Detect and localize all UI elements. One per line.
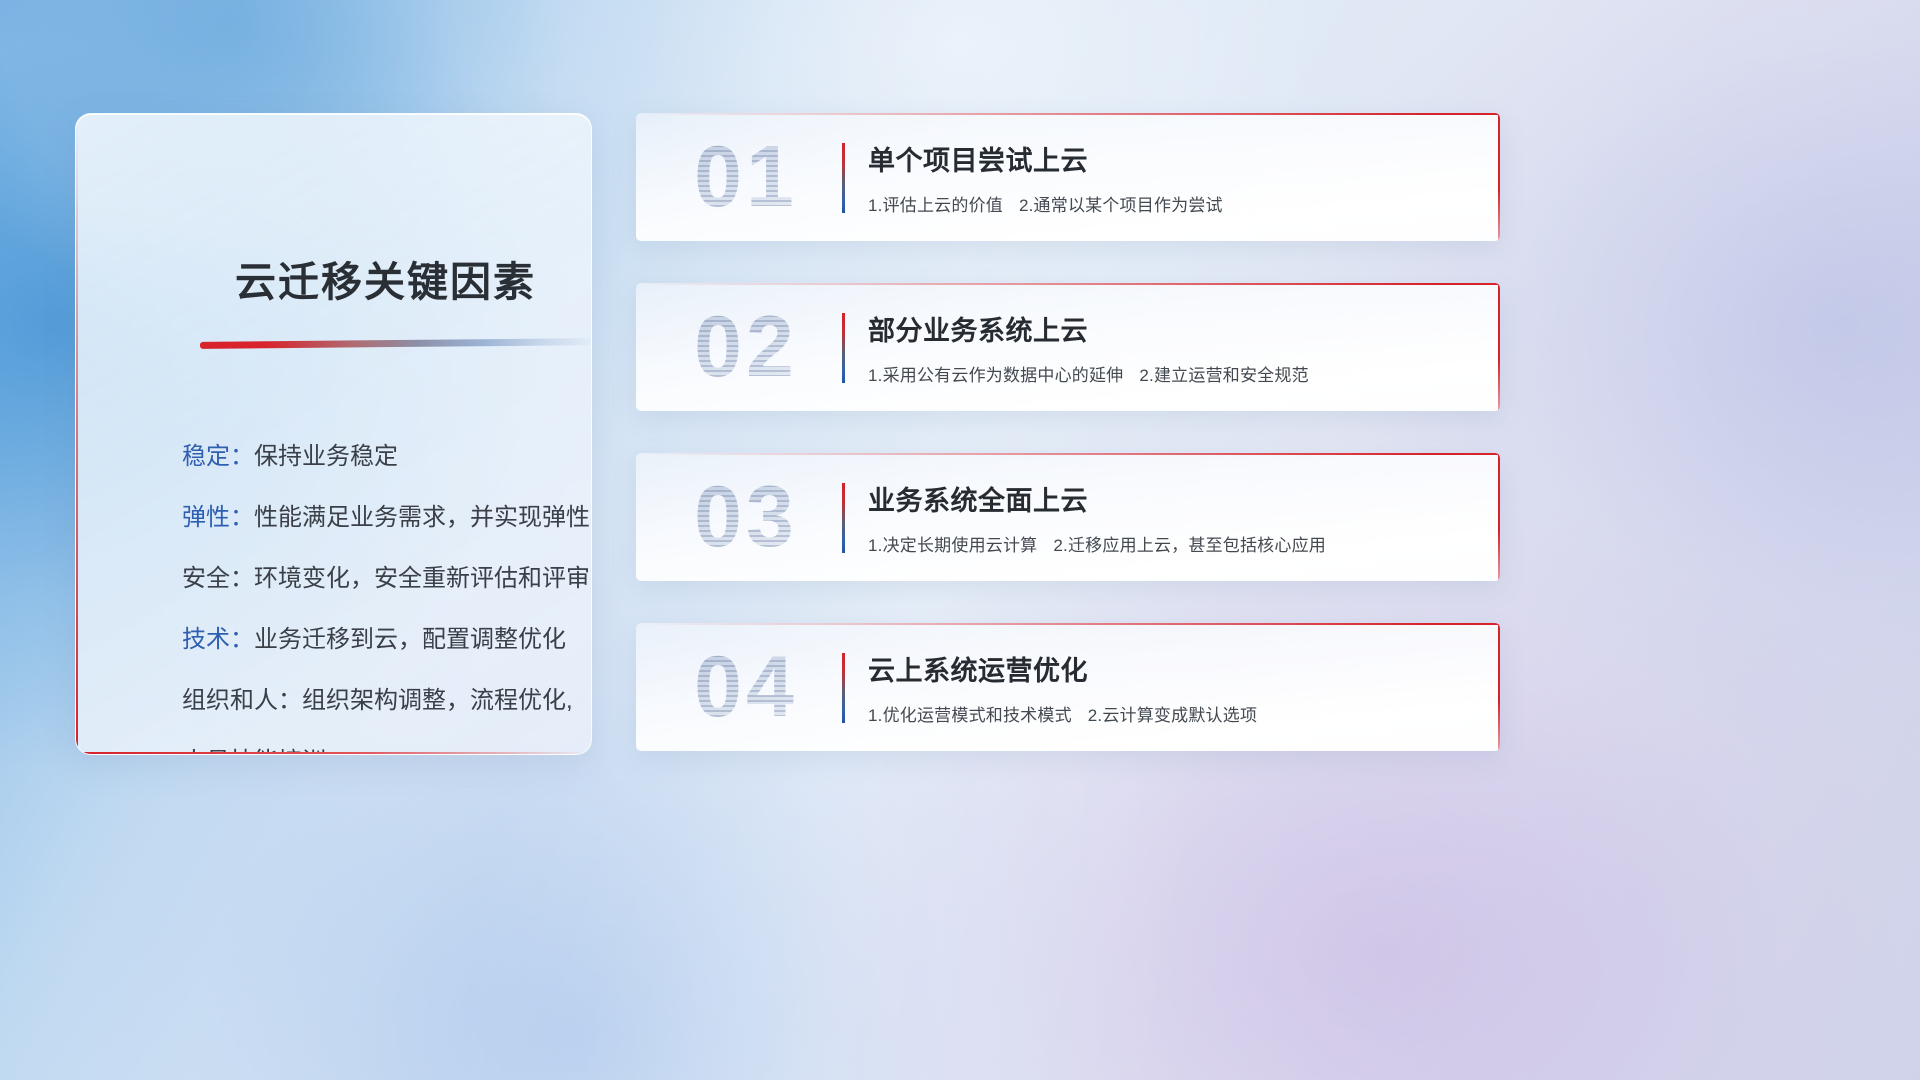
step-description-part-2: 2.通常以某个项目作为尝试 <box>1019 196 1223 215</box>
step-title: 单个项目尝试上云 <box>868 139 1088 178</box>
step-divider-bar <box>842 483 845 553</box>
factor-label: 稳定： <box>182 443 254 470</box>
page-title: 云迁移关键因素 <box>235 248 536 308</box>
step-number: 02 <box>662 295 830 399</box>
step-description: 1.决定长期使用云计算2.迁移应用上云，甚至包括核心应用 <box>868 531 1326 556</box>
factor-row: 安全：环境变化，安全重新评估和评审 <box>182 548 592 609</box>
key-factors-card: 云迁移关键因素 稳定：保持业务稳定弹性：性能满足业务需求，并实现弹性安全：环境变… <box>75 113 592 755</box>
step-divider-bar <box>842 653 845 723</box>
step-number: 01 <box>662 125 830 229</box>
factor-text: 环境变化，安全重新评估和评审 <box>254 565 590 592</box>
step-number: 04 <box>662 635 830 739</box>
step-description: 1.采用公有云作为数据中心的延伸2.建立运营和安全规范 <box>868 361 1309 386</box>
factor-row: 稳定：保持业务稳定 <box>182 426 592 487</box>
factor-text: 保持业务稳定 <box>254 443 398 470</box>
factor-label: 安全： <box>182 565 254 592</box>
step-description-part-2: 2.云计算变成默认选项 <box>1088 706 1257 725</box>
factor-label: 弹性： <box>182 504 254 531</box>
step-card[interactable]: 03业务系统全面上云1.决定长期使用云计算2.迁移应用上云，甚至包括核心应用 <box>636 453 1500 581</box>
step-description-part-1: 1.优化运营模式和技术模式 <box>868 706 1072 725</box>
step-title: 业务系统全面上云 <box>868 479 1088 518</box>
factor-label: 组织和人： <box>182 687 302 714</box>
step-description: 1.评估上云的价值2.通常以某个项目作为尝试 <box>868 191 1223 216</box>
factor-text: 业务迁移到云，配置调整优化 <box>254 626 566 653</box>
step-title: 云上系统运营优化 <box>868 649 1088 688</box>
factor-text: 组织架构调整，流程优化, <box>302 687 573 714</box>
factor-row: 弹性：性能满足业务需求，并实现弹性 <box>182 487 592 548</box>
step-description-part-2: 2.迁移应用上云，甚至包括核心应用 <box>1053 536 1326 555</box>
factor-row: 组织和人：组织架构调整，流程优化, <box>182 670 592 731</box>
step-divider-bar <box>842 143 845 213</box>
step-description-part-2: 2.建立运营和安全规范 <box>1139 366 1308 385</box>
migration-steps-list: 01单个项目尝试上云1.评估上云的价值2.通常以某个项目作为尝试02部分业务系统… <box>636 113 1500 793</box>
step-number: 03 <box>662 465 830 569</box>
factor-row: 人员技能培训 <box>182 731 592 755</box>
factor-text: 人员技能培训 <box>182 748 326 755</box>
factor-text: 性能满足业务需求，并实现弹性 <box>254 504 590 531</box>
step-description-part-1: 1.采用公有云作为数据中心的延伸 <box>868 366 1123 385</box>
step-divider-bar <box>842 313 845 383</box>
step-description-part-1: 1.决定长期使用云计算 <box>868 536 1037 555</box>
factor-label: 技术： <box>182 626 254 653</box>
factor-row: 技术：业务迁移到云，配置调整优化 <box>182 609 592 670</box>
step-card[interactable]: 02部分业务系统上云1.采用公有云作为数据中心的延伸2.建立运营和安全规范 <box>636 283 1500 411</box>
step-card[interactable]: 04云上系统运营优化1.优化运营模式和技术模式2.云计算变成默认选项 <box>636 623 1500 751</box>
title-underline-rule <box>200 338 592 349</box>
step-description-part-1: 1.评估上云的价值 <box>868 196 1003 215</box>
factor-list: 稳定：保持业务稳定弹性：性能满足业务需求，并实现弹性安全：环境变化，安全重新评估… <box>182 426 592 755</box>
step-title: 部分业务系统上云 <box>868 309 1088 348</box>
step-description: 1.优化运营模式和技术模式2.云计算变成默认选项 <box>868 701 1257 726</box>
step-card[interactable]: 01单个项目尝试上云1.评估上云的价值2.通常以某个项目作为尝试 <box>636 113 1500 241</box>
